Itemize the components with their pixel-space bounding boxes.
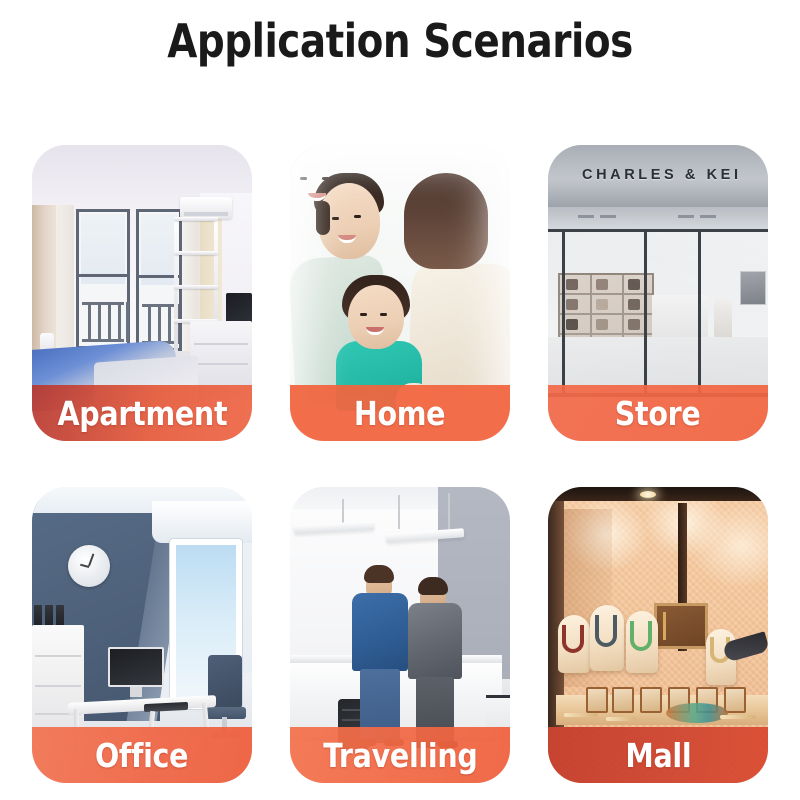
card-label-travelling: Travelling xyxy=(323,736,477,775)
page-title: Application Scenarios xyxy=(24,14,776,68)
necklace-bust xyxy=(558,615,590,673)
display-sign xyxy=(654,603,708,649)
necklace-bust xyxy=(590,605,624,671)
store-sign-text: CHARLES & KEI xyxy=(582,167,768,183)
card-label-band-office: Office xyxy=(32,727,252,783)
card-label-band-travelling: Travelling xyxy=(290,727,510,783)
card-label-band-home: Home xyxy=(290,385,510,441)
card-label-apartment: Apartment xyxy=(57,394,227,433)
card-label-mall: Mall xyxy=(625,736,691,775)
scenario-card-office[interactable]: Office xyxy=(32,487,252,783)
scenario-card-apartment[interactable]: Apartment xyxy=(32,145,252,441)
card-label-office: Office xyxy=(95,736,188,775)
card-label-home: Home xyxy=(354,394,445,433)
scenario-card-travelling[interactable]: Travelling xyxy=(290,487,510,783)
scenario-card-home[interactable]: Home xyxy=(290,145,510,441)
card-label-store: Store xyxy=(615,394,701,433)
monitor xyxy=(108,647,164,687)
card-label-band-mall: Mall xyxy=(548,727,768,783)
scenario-card-store[interactable]: CHARLES & KEI Store xyxy=(548,145,768,441)
application-scenarios-page: Application Scenarios xyxy=(0,0,800,800)
necklace-bust xyxy=(626,611,658,673)
scenario-card-mall[interactable]: Mall xyxy=(548,487,768,783)
wall-clock xyxy=(68,545,110,587)
card-label-band-apartment: Apartment xyxy=(32,385,252,441)
card-label-band-store: Store xyxy=(548,385,768,441)
air-conditioner xyxy=(180,197,232,219)
scenario-cards-grid: Apartment xyxy=(32,145,772,783)
